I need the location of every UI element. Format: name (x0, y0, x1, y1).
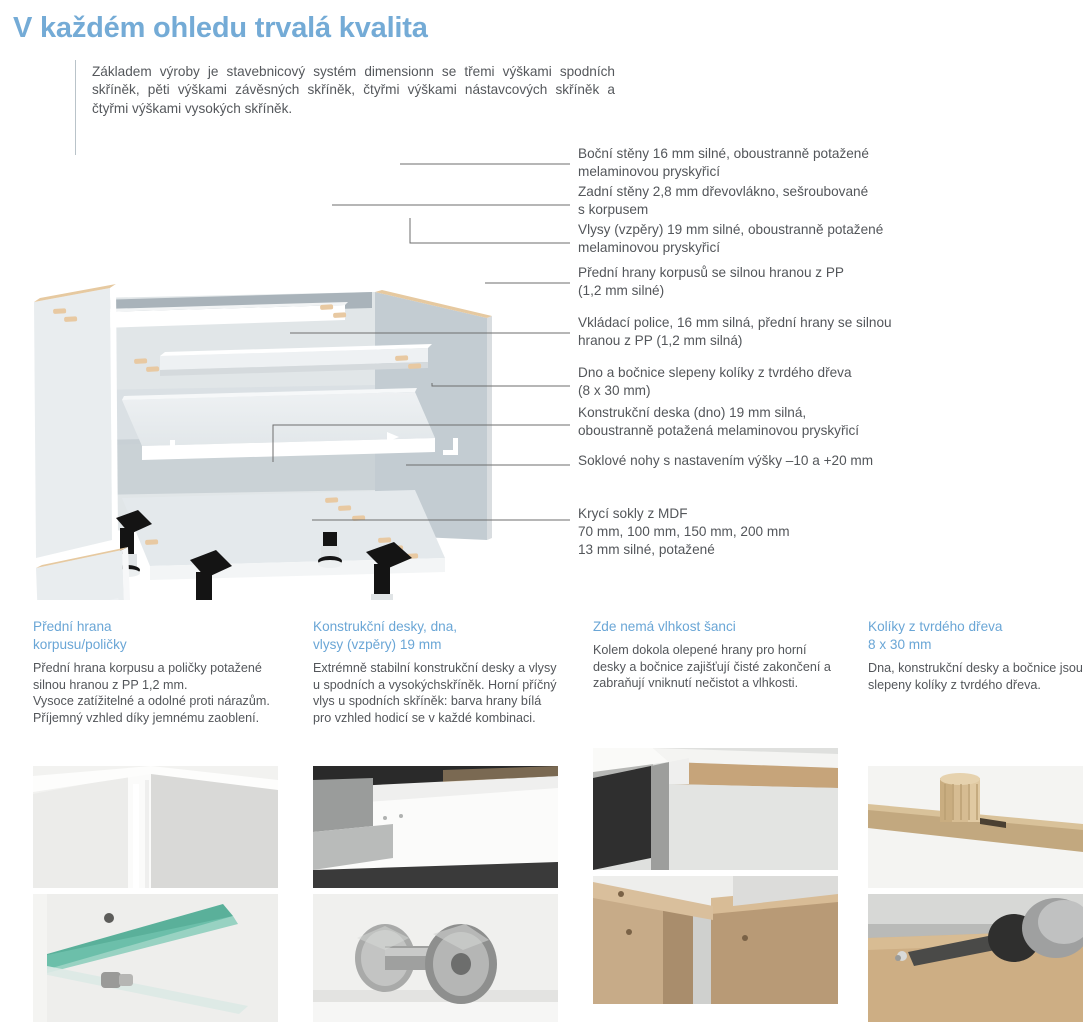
cabinet-corner-white-photo (33, 766, 278, 888)
spec-line: Krycí sokly z MDF (578, 505, 978, 523)
spec-construction-board: Konstrukční deska (dno) 19 mm silná, obo… (578, 404, 978, 440)
exploded-cabinet-diagram (0, 140, 570, 600)
spec-line: Soklové nohy s nastavením výšky –10 a +2… (578, 452, 978, 470)
bottom-board-part (122, 490, 445, 580)
spec-rails: Vlysy (vzpěry) 19 mm silné, oboustranně … (578, 221, 978, 257)
column-body: Extrémně stabilní konstrukční desky a vl… (313, 660, 558, 726)
side-plinth-part (36, 547, 130, 600)
column-heading: Kolíky z tvrdého dřeva8 x 30 mm (868, 618, 1083, 654)
spec-line: (1,2 mm silné) (578, 282, 978, 300)
spec-line: melaminovou pryskyřicí (578, 239, 978, 257)
spec-line: oboustranně potažená melaminovou pryskyř… (578, 422, 978, 440)
spec-plinth-legs: Soklové nohy s nastavením výšky –10 a +2… (578, 452, 978, 470)
feature-column-front-edge: Přední hranakorpusu/poličky Přední hrana… (33, 618, 278, 1022)
spec-line: 70 mm, 100 mm, 150 mm, 200 mm (578, 523, 978, 541)
feature-column-moisture-protection: Zde nemá vlhkost šanci Kolem dokola olep… (593, 618, 838, 1004)
spec-line: Zadní stěny 2,8 mm dřevovlákno, sešroubo… (578, 183, 978, 201)
feature-column-construction-boards: Konstrukční desky, dna,vlysy (vzpěry) 19… (313, 618, 558, 1022)
column-heading: Přední hranakorpusu/poličky (33, 618, 278, 654)
column-heading: Zde nemá vlhkost šanci (593, 618, 838, 636)
spec-line: Boční stěny 16 mm silné, oboustranně pot… (578, 145, 978, 163)
left-side-panel-part (34, 284, 118, 558)
column-body: Přední hrana korpusu a poličky potažené … (33, 660, 278, 726)
spec-line: Konstrukční deska (dno) 19 mm silná, (578, 404, 978, 422)
spec-line: melaminovou pryskyřicí (578, 163, 978, 181)
intro-paragraph: Základem výroby je stavebnicový systém d… (92, 63, 615, 118)
brochure-page: V každém ohledu trvalá kvalita Základem … (0, 0, 1085, 1024)
spec-dowels: Dno a bočnice slepeny kolíky z tvrdého d… (578, 364, 978, 400)
feature-column-hardwood-dowels: Kolíky z tvrdého dřeva8 x 30 mm Dna, kon… (868, 618, 1083, 1022)
column-body: Kolem dokola olepené hrany pro horní des… (593, 642, 838, 692)
page-title: V každém ohledu trvalá kvalita (13, 12, 428, 45)
column-body: Dna, konstrukční desky a bočnice jsou sl… (868, 660, 1083, 693)
wooden-dowel-in-chipboard-photo (868, 766, 1083, 888)
insert-shelf-part (122, 388, 435, 460)
spec-line: 13 mm silné, potažené (578, 541, 978, 559)
chipboard-carcase-corner-photo (593, 876, 838, 1004)
feature-columns: Přední hranakorpusu/poličky Přední hrana… (0, 618, 1085, 1024)
spec-back-walls: Zadní stěny 2,8 mm dřevovlákno, sešroubo… (578, 183, 978, 219)
spec-line: (8 x 30 mm) (578, 382, 978, 400)
spec-mdf-plinth: Krycí sokly z MDF 70 mm, 100 mm, 150 mm,… (578, 505, 978, 560)
spec-line: Přední hrany korpusů se silnou hranou z … (578, 264, 978, 282)
white-shelf-rail-photo (313, 766, 558, 888)
column-heading: Konstrukční desky, dna,vlysy (vzpěry) 19… (313, 618, 558, 654)
spec-line: hranou z PP (1,2 mm silná) (578, 332, 978, 350)
spec-line: Vlysy (vzpěry) 19 mm silné, oboustranně … (578, 221, 978, 239)
steel-dumbbell-load-test-photo (313, 894, 558, 1022)
spec-line: Vkládací police, 16 mm silná, přední hra… (578, 314, 978, 332)
edge-banded-corner-photo (593, 748, 838, 870)
spec-line: Dno a bočnice slepeny kolíky z tvrdého d… (578, 364, 978, 382)
spec-line: s korpusem (578, 201, 978, 219)
dowel-insertion-tool-photo (868, 894, 1083, 1022)
spec-insert-shelf: Vkládací police, 16 mm silná, přední hra… (578, 314, 978, 350)
spec-front-edges: Přední hrany korpusů se silnou hranou z … (578, 264, 978, 300)
spec-side-walls: Boční stěny 16 mm silné, oboustranně pot… (578, 145, 978, 181)
glass-shelf-bracket-photo (33, 894, 278, 1022)
